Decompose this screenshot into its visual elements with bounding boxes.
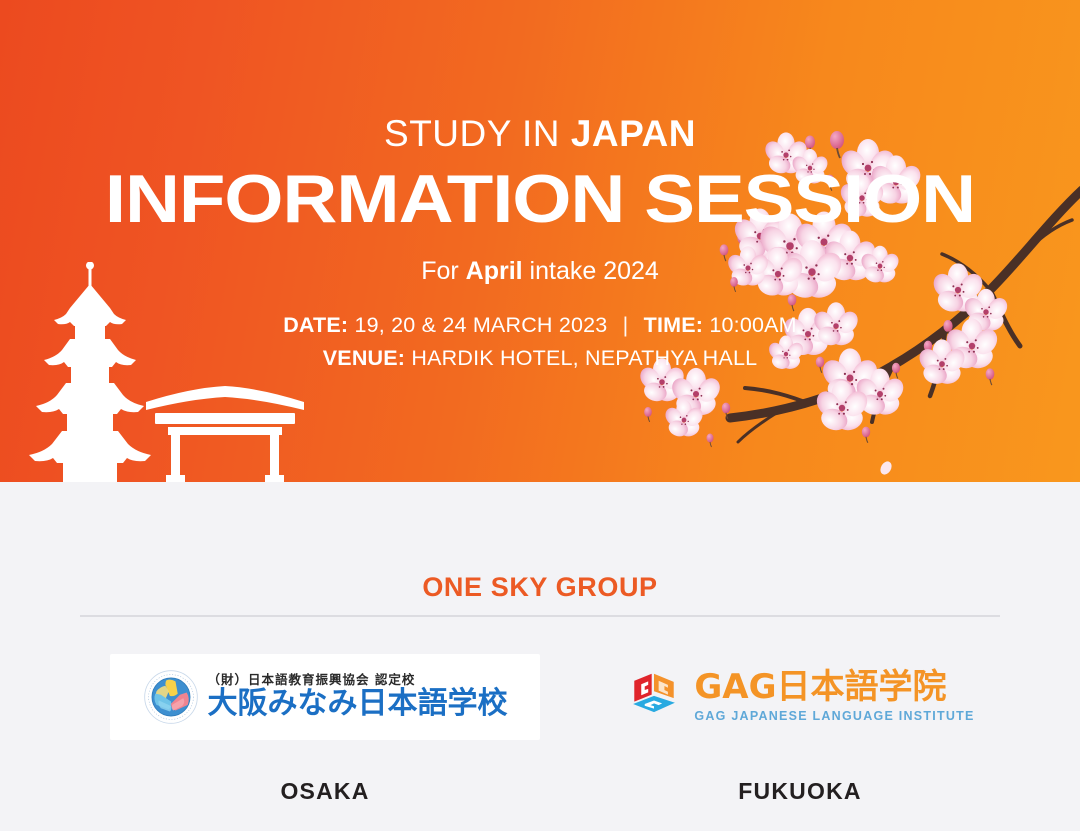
date-value: 19, 20 & 24 MARCH 2023: [354, 313, 607, 337]
osaka-school-name-jp: 大阪みなみ日本語学校: [208, 687, 508, 721]
headline-study-in-japan: STUDY IN JAPAN: [0, 115, 1080, 152]
logo-card-fukuoka: GAG日本語学院 GAG JAPANESE LANGUAGE INSTITUTE: [600, 654, 1000, 740]
gag-school-name-jp: GAG日本語学院: [694, 670, 974, 706]
event-venue-row: VENUE: HARDIK HOTEL, NEPATHYA HALL: [0, 342, 1080, 375]
logo-card-osaka: （財）日本語教育振興協会 認定校 大阪みなみ日本語学校: [110, 654, 540, 740]
event-details: DATE: 19, 20 & 24 MARCH 2023 | TIME: 10:…: [0, 309, 1080, 376]
headline-japan: JAPAN: [571, 113, 696, 154]
time-value: 10:00AM: [709, 313, 796, 337]
osaka-school-logo: （財）日本語教育振興協会 認定校 大阪みなみ日本語学校: [133, 669, 518, 725]
city-label-osaka: OSAKA: [110, 778, 540, 805]
osaka-accreditation-text: （財）日本語教育振興協会 認定校: [208, 673, 508, 687]
falling-petals: [878, 459, 947, 482]
poster-root: STUDY IN JAPAN INFORMATION SESSION For A…: [0, 0, 1080, 831]
headline-block: STUDY IN JAPAN INFORMATION SESSION For A…: [0, 0, 1080, 284]
gag-logo-text: GAG日本語学院 GAG JAPANESE LANGUAGE INSTITUTE: [694, 670, 974, 724]
osaka-logo-text: （財）日本語教育振興協会 認定校 大阪みなみ日本語学校: [208, 673, 508, 720]
time-label: TIME:: [644, 313, 704, 337]
venue-value: HARDIK HOTEL, NEPATHYA HALL: [411, 346, 757, 370]
venue-label: VENUE:: [323, 346, 405, 370]
city-label-fukuoka: FUKUOKA: [600, 778, 1000, 805]
subheadline-intake: For April intake 2024: [0, 259, 1080, 284]
subheadline-for: For: [421, 257, 465, 285]
osaka-hands-emblem-icon: [143, 669, 199, 725]
partner-logos: （財）日本語教育振興協会 認定校 大阪みなみ日本語学校: [0, 654, 1080, 774]
subheadline-intake-year: intake 2024: [523, 257, 659, 285]
event-date-time-row: DATE: 19, 20 & 24 MARCH 2023 | TIME: 10:…: [0, 309, 1080, 342]
subheadline-month: April: [466, 257, 523, 285]
partners-section: ONE SKY GROUP: [0, 482, 1080, 831]
hero-banner: STUDY IN JAPAN INFORMATION SESSION For A…: [0, 0, 1080, 482]
detail-separator: |: [614, 309, 638, 342]
partner-city-labels: OSAKA FUKUOKA: [0, 778, 1080, 812]
gag-school-name-en: GAG JAPANESE LANGUAGE INSTITUTE: [694, 709, 974, 724]
gag-cube-monogram-icon: [625, 668, 683, 726]
group-title: ONE SKY GROUP: [0, 572, 1080, 603]
headline-study-in: STUDY IN: [384, 113, 571, 154]
date-label: DATE:: [283, 313, 348, 337]
section-divider: [80, 615, 1000, 617]
headline-information-session: INFORMATION SESSION: [0, 165, 1080, 233]
torii-gate-icon: [146, 386, 304, 482]
gag-school-logo: GAG日本語学院 GAG JAPANESE LANGUAGE INSTITUTE: [625, 668, 974, 726]
